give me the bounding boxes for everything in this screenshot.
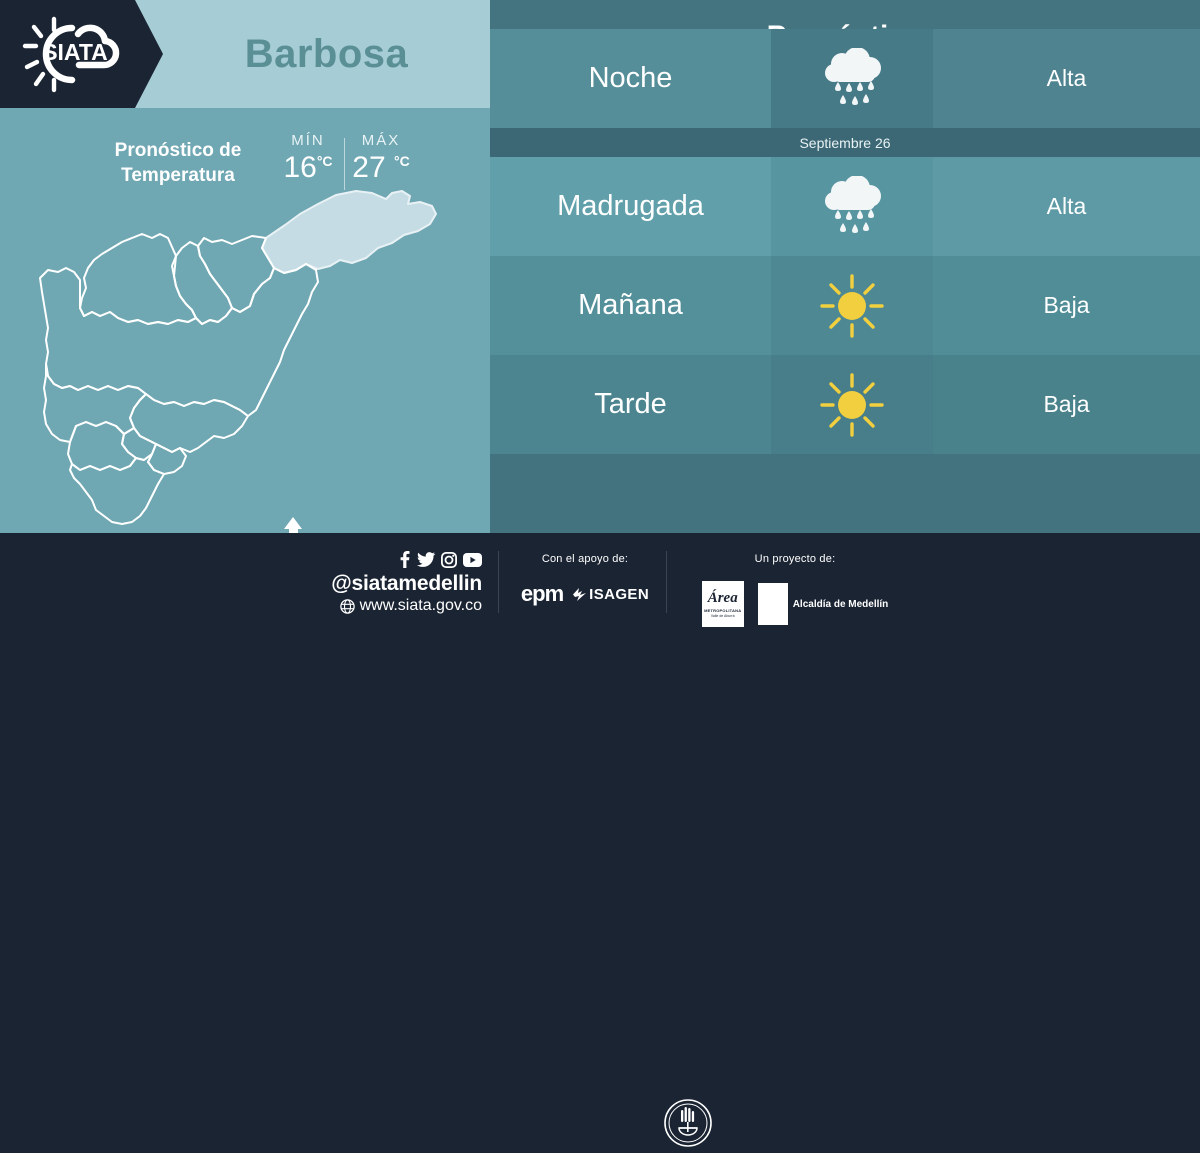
alcaldia-label: Alcaldía de Medellín — [793, 599, 889, 610]
forecast-row-noche[interactable]: Noche — [490, 29, 1200, 128]
forecast-row-manana[interactable]: Mañana Ba — [490, 256, 1200, 355]
amva-line2: Valle de Aburrá — [711, 614, 735, 618]
project-brands: Área METROPOLITANA Valle de Aburrá Alcal… — [700, 581, 890, 627]
rain-cloud-icon — [816, 48, 888, 110]
facebook-icon[interactable] — [398, 551, 411, 568]
social-icons — [300, 551, 482, 569]
university-seal-icon — [663, 1098, 713, 1148]
support-caption: Con el apoyo de: — [510, 553, 660, 565]
alcaldia-logo: Alcaldía de Medellín — [758, 583, 889, 625]
forecast-icon-cell — [771, 157, 933, 256]
map-svg — [0, 190, 490, 533]
forecast-level-label: Alta — [1047, 193, 1087, 220]
forecast-period-label: Madrugada — [557, 190, 704, 223]
isagen-mark-icon — [573, 588, 587, 601]
forecast-icon-cell — [771, 256, 933, 355]
temperature-min-value: 16°C — [272, 151, 344, 185]
alcaldia-shield-icon — [758, 583, 788, 625]
twitter-icon[interactable] — [417, 552, 435, 567]
forecast-level-label: Baja — [1043, 292, 1089, 319]
isagen-logo: ISAGEN — [573, 586, 649, 603]
aburra-valley-map: N — [0, 190, 490, 533]
map-region-itagui — [68, 422, 136, 470]
website-text: www.siata.gov.co — [360, 596, 482, 616]
date-band-2: Septiembre 26 — [490, 128, 1200, 157]
project-block: Un proyecto de: Área METROPOLITANA Valle… — [700, 553, 890, 627]
left-header-band: SIATA Barbosa — [0, 0, 490, 108]
forecast-icon-cell — [771, 355, 933, 454]
project-caption: Un proyecto de: — [700, 553, 890, 565]
temperature-title-line1: Pronóstico de — [88, 138, 268, 163]
sun-cloud-icon: SIATA — [14, 12, 134, 96]
globe-icon — [340, 599, 355, 614]
forecast-period-label: Mañana — [578, 289, 683, 322]
siata-logo-text: SIATA — [42, 39, 108, 65]
area-metropolitana-logo: Área METROPOLITANA Valle de Aburrá — [702, 581, 744, 627]
isagen-text: ISAGEN — [589, 586, 649, 603]
footer-divider-2 — [666, 551, 667, 613]
siata-logo: SIATA — [14, 12, 134, 96]
amva-cursive: Área — [708, 591, 738, 606]
social-handle[interactable]: @siatamedellin — [300, 572, 482, 596]
forecast-level-label: Alta — [1047, 65, 1087, 92]
temperature-min-unit: °C — [317, 153, 333, 169]
forecast-level-label: Baja — [1043, 391, 1089, 418]
temperature-min: MÍN 16°C — [272, 132, 344, 185]
map-region-barbosa — [262, 191, 436, 273]
temperature-block: Pronóstico de Temperatura MÍN 16°C MÁX 2… — [0, 124, 490, 198]
sun-icon — [818, 371, 886, 439]
map-region-copacabana — [172, 242, 232, 324]
temperature-max-label: MÁX — [344, 132, 418, 149]
map-region-northwest — [40, 264, 318, 416]
social-block: @siatamedellin www.siata.gov.co — [300, 551, 482, 616]
map-region-west-strip — [44, 364, 146, 442]
temperature-max: MÁX 27 °C — [344, 132, 418, 185]
website-line[interactable]: www.siata.gov.co — [300, 596, 482, 616]
forecast-period-cell: Tarde — [490, 355, 771, 454]
temperature-title-line2: Temperatura — [88, 163, 268, 188]
forecast-icon-cell — [771, 29, 933, 128]
forecast-level-cell: Baja — [933, 256, 1200, 355]
support-brands: epm ISAGEN — [510, 581, 660, 607]
weather-forecast-poster: SIATA Barbosa Pronóstico de Temperatura … — [0, 0, 1200, 630]
map-region-bello — [80, 234, 196, 324]
forecast-period-label: Tarde — [594, 388, 667, 421]
map-region-medellin — [130, 394, 248, 452]
forecast-level-cell: Alta — [933, 157, 1200, 256]
forecast-row-madrugada[interactable]: Madrugada — [490, 157, 1200, 256]
footer-divider-1 — [498, 551, 499, 613]
forecast-period-cell: Mañana — [490, 256, 771, 355]
amva-line1: METROPOLITANA — [704, 608, 741, 613]
city-title: Barbosa — [163, 0, 490, 108]
forecast-row-tarde[interactable]: Tarde Baj — [490, 355, 1200, 454]
forecast-period-cell: Madrugada — [490, 157, 771, 256]
forecast-level-cell: Alta — [933, 29, 1200, 128]
footer: @siatamedellin www.siata.gov.co Con el a… — [0, 533, 1200, 630]
temperature-title: Pronóstico de Temperatura — [88, 138, 268, 188]
support-block: Con el apoyo de: epm ISAGEN — [510, 553, 660, 607]
forecast-period-cell: Noche — [490, 29, 771, 128]
left-panel: SIATA Barbosa Pronóstico de Temperatura … — [0, 0, 490, 533]
compass-arrow-icon — [284, 517, 302, 529]
forecast-period-label: Noche — [589, 62, 673, 95]
temperature-min-label: MÍN — [272, 132, 344, 149]
rain-cloud-icon — [816, 176, 888, 238]
map-region-caldas — [70, 454, 164, 524]
instagram-icon[interactable] — [441, 552, 457, 568]
precipitation-panel: Pronóstico de Precipitación Septiembre 2… — [490, 0, 1200, 533]
temperature-max-value: 27 °C — [344, 151, 418, 185]
sun-icon — [818, 272, 886, 340]
epm-logo: epm — [521, 581, 563, 607]
youtube-icon[interactable] — [463, 553, 482, 567]
university-seal-logo — [663, 1098, 713, 1148]
forecast-level-cell: Baja — [933, 355, 1200, 454]
left-body: Pronóstico de Temperatura MÍN 16°C MÁX 2… — [0, 108, 490, 533]
temperature-max-unit: °C — [394, 153, 410, 169]
